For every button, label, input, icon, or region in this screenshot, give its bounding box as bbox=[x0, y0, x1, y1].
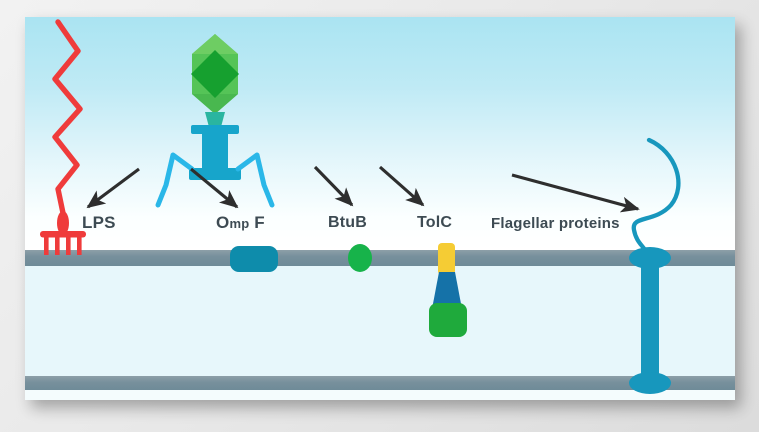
btub-receptor bbox=[348, 244, 372, 272]
label-ompf-o: O bbox=[216, 213, 229, 232]
label-btub: BtuB bbox=[328, 214, 367, 232]
label-ompf-f: F bbox=[249, 213, 265, 232]
lps-zigzag-chain bbox=[55, 22, 80, 233]
lipid-a-tail-4 bbox=[77, 235, 82, 255]
lipid-a-tail-1 bbox=[44, 235, 49, 255]
arrow-to-flagellar bbox=[512, 175, 638, 209]
label-lps: LPS bbox=[82, 213, 116, 233]
label-tolc: TolC bbox=[417, 214, 452, 232]
tolc-channel bbox=[429, 243, 467, 337]
tolc-outer-segment bbox=[438, 243, 455, 275]
diagram-graphics bbox=[25, 17, 735, 400]
label-ompf-mp: mp bbox=[229, 216, 249, 231]
phage-tail-fiber-left bbox=[158, 155, 192, 205]
ompf-porin bbox=[230, 246, 278, 272]
diagram-panel: LPS Omp F BtuB TolC Flagellar proteins bbox=[25, 17, 735, 400]
lipid-a-tail-3 bbox=[66, 235, 71, 255]
arrow-to-tolc bbox=[380, 167, 423, 205]
bacteriophage bbox=[158, 34, 272, 205]
lps-structure bbox=[40, 22, 86, 255]
flagellar-inner-ring bbox=[629, 372, 671, 394]
flagellar-filament bbox=[634, 140, 679, 250]
phage-tail-fiber-right bbox=[238, 155, 272, 205]
arrow-to-btub bbox=[315, 167, 352, 205]
flagellar-rod bbox=[641, 258, 659, 380]
flagellum bbox=[629, 140, 678, 394]
label-ompf: Omp F bbox=[216, 213, 265, 233]
lipid-a-tail-2 bbox=[55, 235, 60, 255]
tolc-base-segment bbox=[429, 303, 467, 337]
arrow-to-lps bbox=[88, 169, 139, 207]
figure-stage: LPS Omp F BtuB TolC Flagellar proteins bbox=[0, 0, 759, 432]
phage-neck bbox=[205, 112, 225, 127]
label-flagellar-proteins: Flagellar proteins bbox=[491, 215, 620, 232]
